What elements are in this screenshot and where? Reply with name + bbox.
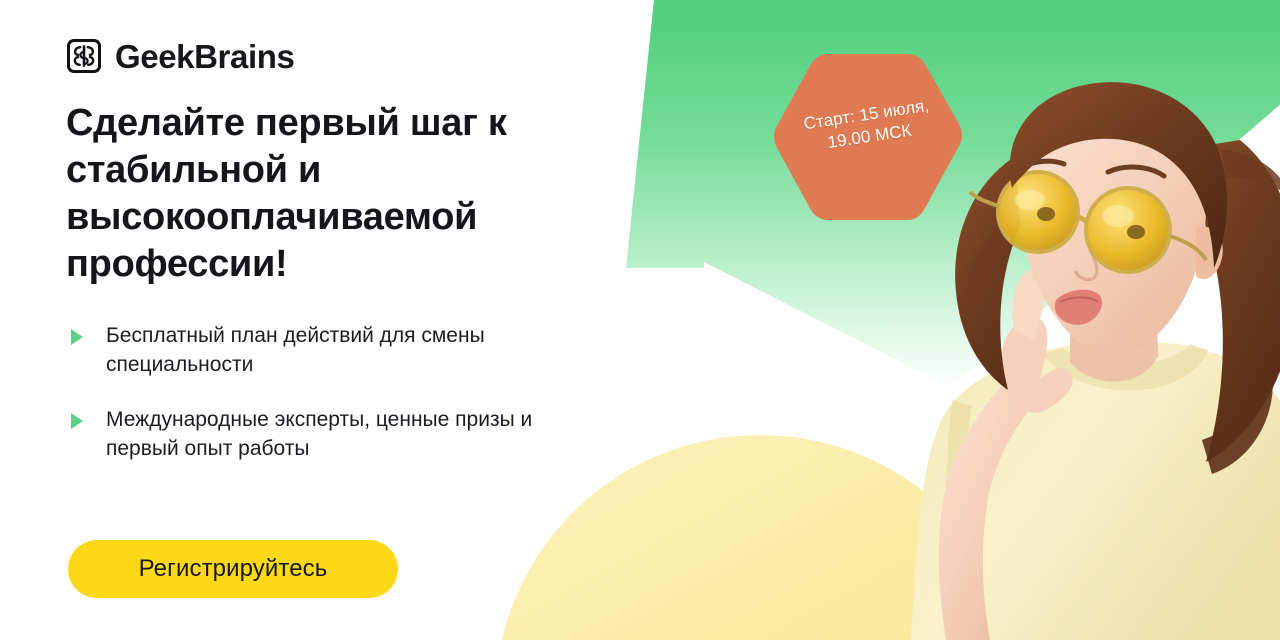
triangle-bullet-icon	[71, 329, 83, 345]
triangle-bullet-icon	[71, 413, 83, 429]
hexagon-shape	[773, 48, 963, 228]
start-date-badge: Старт: 15 июля, 19.00 МСК	[773, 48, 963, 228]
list-item: Международные эксперты, ценные призы и п…	[66, 406, 536, 464]
page-title: Сделайте первый шаг к стабильной и высок…	[66, 100, 586, 288]
list-item-label: Бесплатный план действий для смены специ…	[106, 324, 485, 376]
register-button[interactable]: Регистрируйтесь	[68, 540, 398, 598]
brain-icon	[66, 38, 102, 74]
content-column: GeekBrains Сделайте первый шаг к стабиль…	[66, 0, 626, 640]
benefits-list: Бесплатный план действий для смены специ…	[66, 322, 536, 464]
promo-banner: Старт: 15 июля, 19.00 МСК GeekBrains Сде…	[0, 0, 1280, 640]
list-item: Бесплатный план действий для смены специ…	[66, 322, 536, 380]
brand-logo[interactable]: GeekBrains	[66, 38, 294, 74]
brand-name: GeekBrains	[115, 40, 294, 73]
list-item-label: Международные эксперты, ценные призы и п…	[106, 408, 532, 460]
